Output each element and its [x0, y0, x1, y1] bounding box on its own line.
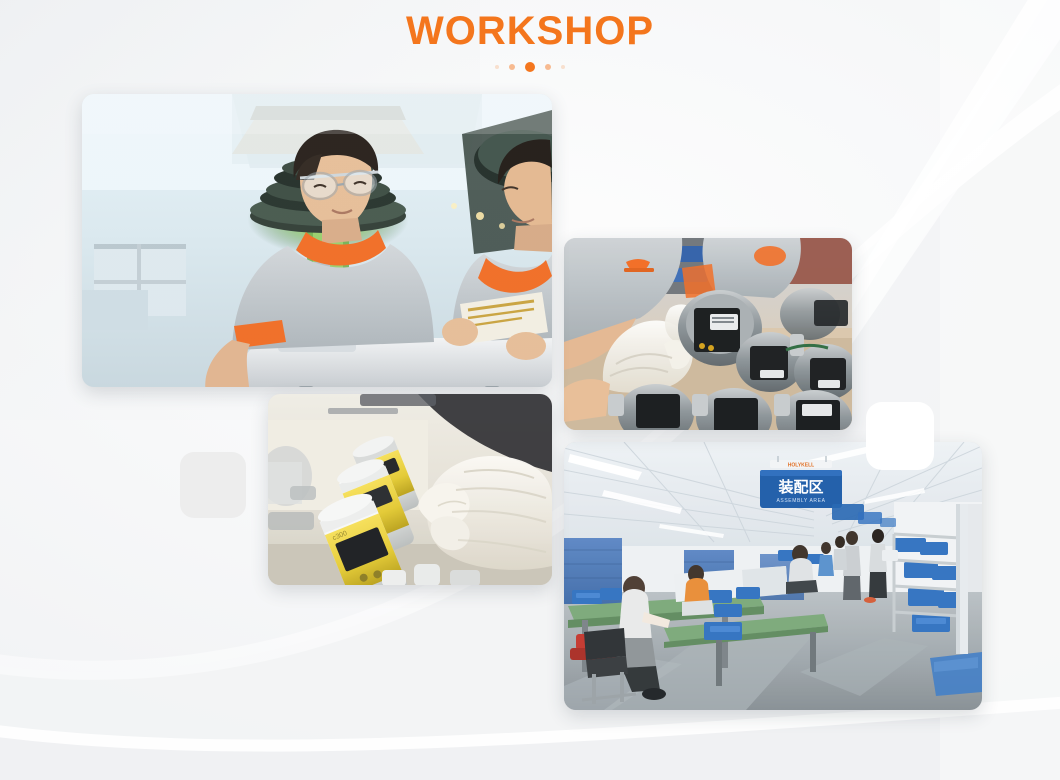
page-header: WORKSHOP: [0, 8, 1060, 74]
decorative-dot-4: [545, 64, 551, 70]
gallery-photo-4[interactable]: 装配区 ASSEMBLY AREA HOLYKELL: [564, 442, 982, 710]
decorative-rounded-square-white: [866, 402, 934, 470]
title-dot-decoration: [0, 60, 1060, 74]
gallery-photo-3[interactable]: c300: [268, 394, 552, 585]
workshop-gallery-page: WORKSHOP: [0, 0, 1060, 780]
gallery-photo-1[interactable]: [82, 94, 552, 387]
decorative-dot-2: [509, 64, 515, 70]
page-title: WORKSHOP: [0, 8, 1060, 54]
decorative-rounded-square-gray: [180, 452, 246, 518]
decorative-dot-1: [495, 65, 499, 69]
gallery-photo-2[interactable]: [564, 238, 852, 430]
decorative-dot-5: [561, 65, 565, 69]
decorative-dot-3: [525, 62, 535, 72]
